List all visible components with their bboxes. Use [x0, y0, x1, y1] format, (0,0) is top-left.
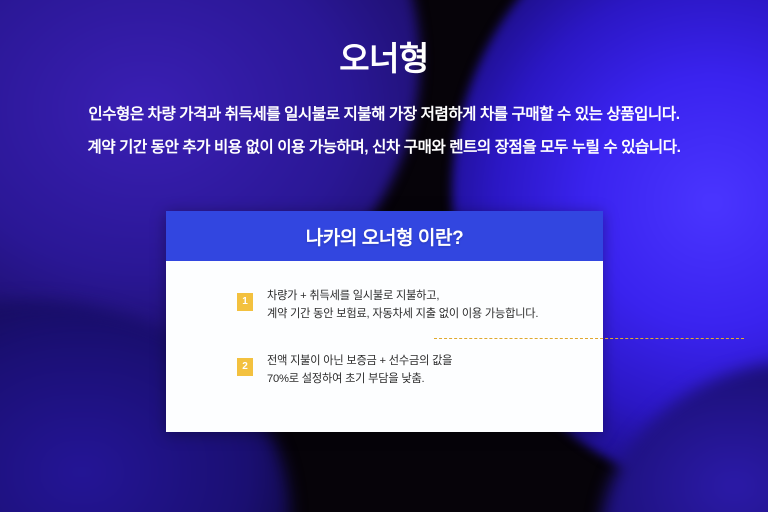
list-item: 2 전액 지불이 아닌 보증금 + 선수금의 값을 70%로 설정하여 초기 부…	[166, 352, 603, 388]
dashed-divider	[434, 338, 744, 339]
hero-section: 오너형 인수형은 차량 가격과 취득세를 일시불로 지불해 가장 저렴하게 차를…	[0, 0, 768, 164]
list-item-line: 70%로 설정하여 초기 부담을 낮춤.	[267, 370, 452, 388]
list-item-line: 계약 기간 동안 보험료, 자동차세 지출 없이 이용 가능합니다.	[267, 305, 538, 323]
page-subtitle: 인수형은 차량 가격과 취득세를 일시불로 지불해 가장 저렴하게 차를 구매할…	[0, 80, 768, 164]
subtitle-line-2: 계약 기간 동안 추가 비용 없이 이용 가능하며, 신차 구매와 렌트의 장점…	[0, 131, 768, 164]
list-item-text: 전액 지불이 아닌 보증금 + 선수금의 값을 70%로 설정하여 초기 부담을…	[267, 352, 452, 388]
list-item-text: 차량가 + 취득세를 일시불로 지불하고, 계약 기간 동안 보험료, 자동차세…	[267, 287, 538, 323]
list-item-number-badge: 1	[237, 293, 253, 311]
slide-canvas: 오너형 인수형은 차량 가격과 취득세를 일시불로 지불해 가장 저렴하게 차를…	[0, 0, 768, 512]
list-item-line: 전액 지불이 아닌 보증금 + 선수금의 값을	[267, 352, 452, 370]
info-card-body: 1 차량가 + 취득세를 일시불로 지불하고, 계약 기간 동안 보험료, 자동…	[166, 261, 603, 432]
list-item: 1 차량가 + 취득세를 일시불로 지불하고, 계약 기간 동안 보험료, 자동…	[166, 261, 603, 323]
list-item-number-badge: 2	[237, 358, 253, 376]
info-card-title: 나카의 오너형 이란?	[306, 223, 464, 250]
list-item-line: 차량가 + 취득세를 일시불로 지불하고,	[267, 287, 538, 305]
subtitle-line-1: 인수형은 차량 가격과 취득세를 일시불로 지불해 가장 저렴하게 차를 구매할…	[0, 98, 768, 131]
info-card: 나카의 오너형 이란? 1 차량가 + 취득세를 일시불로 지불하고, 계약 기…	[166, 211, 603, 432]
background-glow-bottom-right	[600, 360, 768, 512]
info-card-header: 나카의 오너형 이란?	[166, 211, 603, 261]
page-title: 오너형	[0, 0, 768, 80]
